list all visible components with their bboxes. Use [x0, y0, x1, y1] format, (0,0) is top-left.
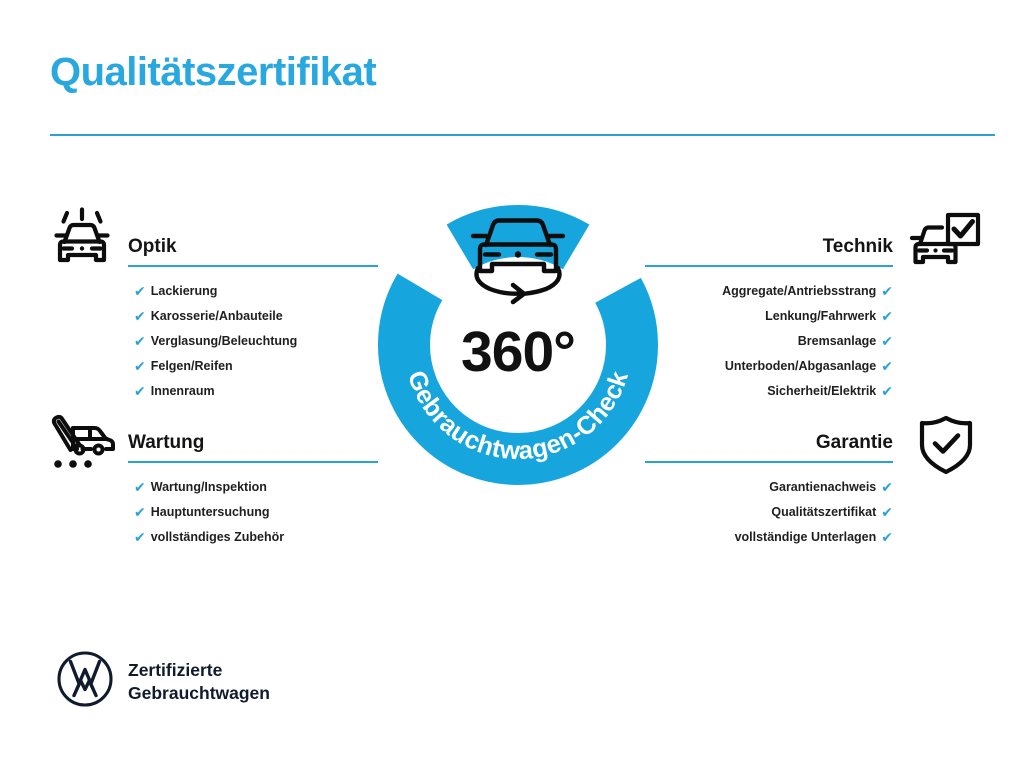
check-icon: ✔ [881, 384, 893, 398]
check-icon: ✔ [134, 309, 146, 323]
checklist-item: ✔Hauptuntersuchung [128, 505, 378, 530]
section-heading-optik: Optik [128, 237, 378, 265]
check-icon: ✔ [881, 480, 893, 494]
check-icon: ✔ [881, 505, 893, 519]
check-icon: ✔ [881, 530, 893, 544]
check-icon: ✔ [134, 284, 146, 298]
section-heading-wartung: Wartung [128, 433, 378, 461]
checklist-item: ✔Karosserie/Anbauteile [128, 309, 378, 334]
checklist-item-label: Karosserie/Anbauteile [151, 310, 283, 323]
section-technik: TechnikAggregate/Antriebsstrang✔Lenkung/… [645, 237, 893, 409]
checklist-item: ✔Innenraum [128, 384, 378, 409]
check-icon: ✔ [881, 359, 893, 373]
car-checkbox-icon [908, 212, 982, 279]
section-wartung: Wartung✔Wartung/Inspektion✔Hauptuntersuc… [128, 433, 378, 555]
section-garantie: GarantieGarantienachweis✔Qualitätszertif… [645, 433, 893, 555]
checklist-item-label: Unterboden/Abgasanlage [725, 360, 876, 373]
360-check-badge: Gebrauchtwagen-Check 360° [378, 193, 658, 485]
checklist-item-label: Verglasung/Beleuchtung [151, 335, 298, 348]
check-icon: ✔ [134, 480, 146, 494]
checklist-item-label: Aggregate/Antriebsstrang [722, 285, 876, 298]
check-icon: ✔ [134, 505, 146, 519]
check-icon: ✔ [134, 359, 146, 373]
car-wrench-service-icon [46, 414, 118, 481]
vw-certified-lockup: Zertifizierte Gebrauchtwagen [56, 650, 270, 713]
vw-text-line-1: Zertifizierte [128, 660, 222, 680]
check-icon: ✔ [134, 384, 146, 398]
checklist-garantie: Garantienachweis✔Qualitätszertifikat✔vol… [645, 463, 893, 555]
vw-text-line-2: Gebrauchtwagen [128, 683, 270, 703]
check-icon: ✔ [881, 309, 893, 323]
checklist-optik: ✔Lackierung✔Karosserie/Anbauteile✔Vergla… [128, 267, 378, 409]
checklist-item: Garantienachweis✔ [645, 480, 893, 505]
checklist-item-label: Sicherheit/Elektrik [767, 385, 876, 398]
checklist-item-label: Qualitätszertifikat [771, 506, 876, 519]
checklist-item-label: Innenraum [151, 385, 215, 398]
vw-certified-text: Zertifizierte Gebrauchtwagen [128, 659, 270, 704]
checklist-item: Lenkung/Fahrwerk✔ [645, 309, 893, 334]
check-icon: ✔ [134, 334, 146, 348]
shield-check-icon [918, 414, 974, 481]
checklist-item: Qualitätszertifikat✔ [645, 505, 893, 530]
checklist-item-label: Hauptuntersuchung [151, 506, 270, 519]
page-title: Qualitätszertifikat [50, 50, 376, 94]
checklist-item-label: Felgen/Reifen [151, 360, 233, 373]
section-optik: Optik✔Lackierung✔Karosserie/Anbauteile✔V… [128, 237, 378, 409]
checklist-item-label: Lackierung [151, 285, 218, 298]
checklist-item-label: Garantienachweis [769, 481, 876, 494]
section-heading-technik: Technik [645, 237, 893, 265]
checklist-technik: Aggregate/Antriebsstrang✔Lenkung/Fahrwer… [645, 267, 893, 409]
checklist-item-label: vollständige Unterlagen [735, 531, 877, 544]
checklist-item-label: Bremsanlage [798, 335, 877, 348]
checklist-item: ✔Lackierung [128, 284, 378, 309]
checklist-item: ✔Felgen/Reifen [128, 359, 378, 384]
volkswagen-logo [56, 650, 114, 713]
check-icon: ✔ [881, 334, 893, 348]
checklist-item: Bremsanlage✔ [645, 334, 893, 359]
checklist-item: ✔vollständiges Zubehör [128, 530, 378, 555]
checklist-item-label: Lenkung/Fahrwerk [765, 310, 876, 323]
title-divider [50, 134, 995, 136]
checklist-item: vollständige Unterlagen✔ [645, 530, 893, 555]
checklist-item-label: vollständiges Zubehör [151, 531, 284, 544]
badge-center-label: 360° [461, 320, 575, 384]
section-heading-garantie: Garantie [645, 433, 893, 461]
checklist-item-label: Wartung/Inspektion [151, 481, 267, 494]
check-icon: ✔ [881, 284, 893, 298]
checklist-item: Sicherheit/Elektrik✔ [645, 384, 893, 409]
checklist-wartung: ✔Wartung/Inspektion✔Hauptuntersuchung✔vo… [128, 463, 378, 555]
car-shine-icon [46, 204, 118, 281]
checklist-item: ✔Wartung/Inspektion [128, 480, 378, 505]
certificate-page: Qualitätszertifikat [0, 0, 1024, 768]
checklist-item: Unterboden/Abgasanlage✔ [645, 359, 893, 384]
checklist-item: Aggregate/Antriebsstrang✔ [645, 284, 893, 309]
check-icon: ✔ [134, 530, 146, 544]
checklist-item: ✔Verglasung/Beleuchtung [128, 334, 378, 359]
